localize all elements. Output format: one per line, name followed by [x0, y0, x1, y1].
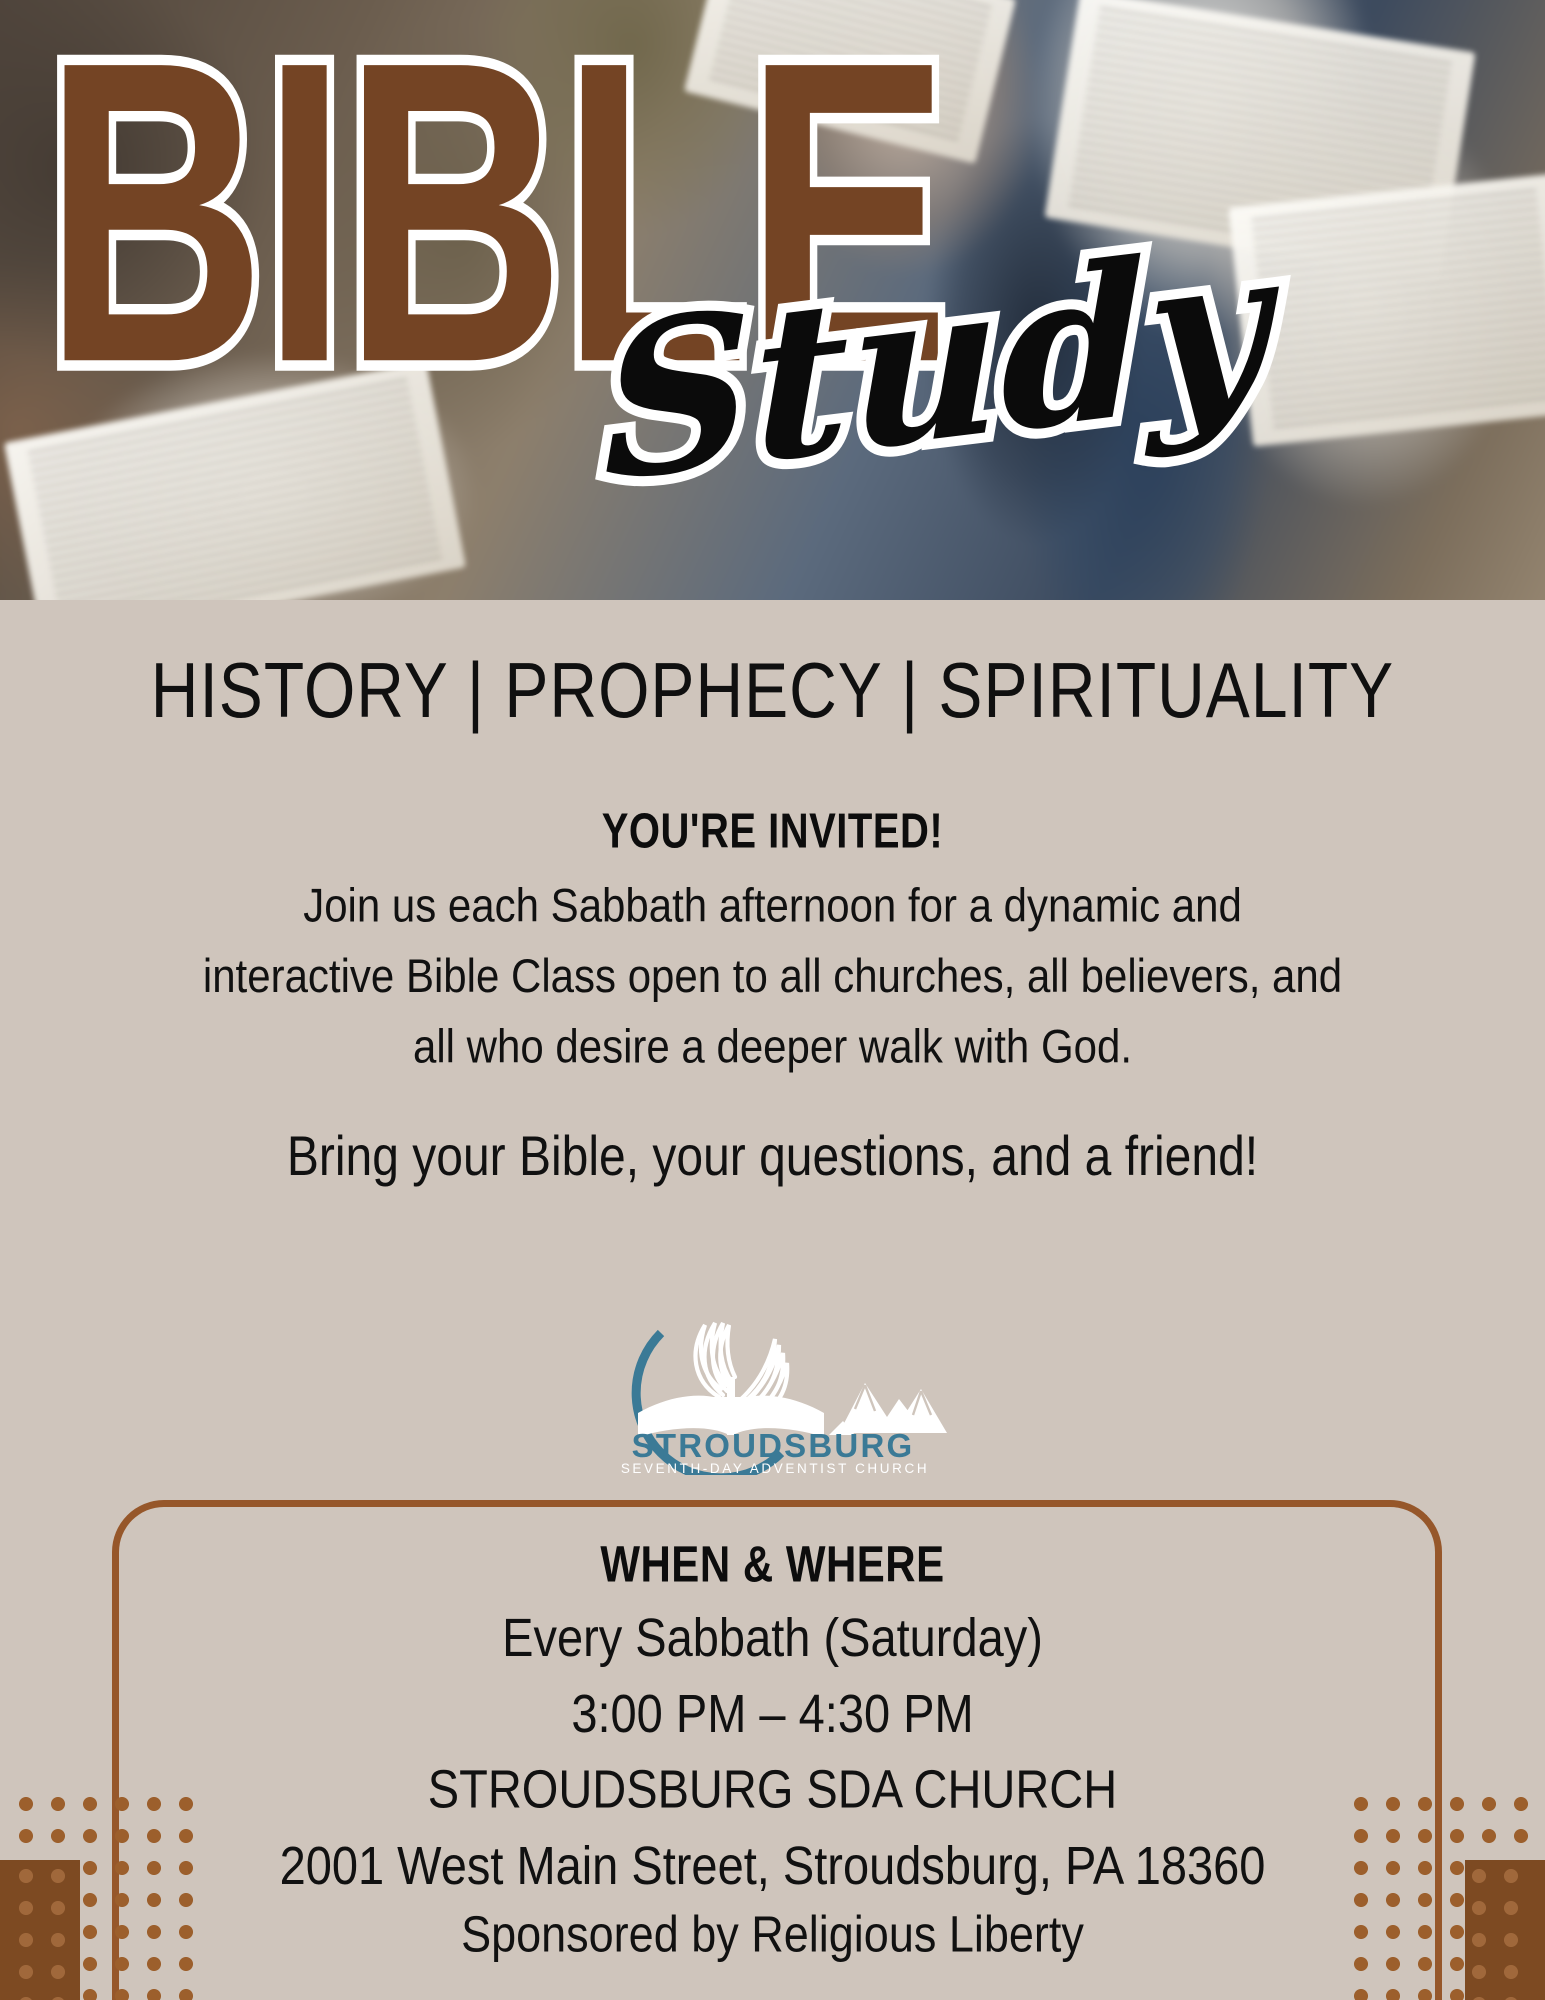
header-photo-banner: BIBLE Study [0, 0, 1545, 600]
event-time: 3:00 PM – 4:30 PM [60, 1676, 1485, 1752]
invitation-heading: YOU'RE INVITED! [0, 805, 1545, 860]
invitation-paragraph: Join us each Sabbath afternoon for a dyn… [50, 870, 1495, 1082]
event-address: 2001 West Main Street, Stroudsburg, PA 1… [60, 1828, 1485, 1904]
bible-study-flyer: BIBLE Study HISTORY | PROPHECY | SPIRITU… [0, 0, 1545, 2000]
event-venue: STROUDSBURG SDA CHURCH [60, 1752, 1485, 1828]
event-details: Every Sabbath (Saturday) 3:00 PM – 4:30 … [60, 1600, 1485, 1904]
topic-tagline: HISTORY | PROPHECY | SPIRITUALITY [0, 645, 1545, 735]
flame-left [695, 1323, 734, 1397]
church-logo: STROUDSBURG SEVENTH-DAY ADVENTIST CHURCH [543, 1285, 1003, 1475]
invitation-callout: Bring your Bible, your questions, and a … [0, 1125, 1545, 1189]
dot-grid-overlay-left [10, 1860, 82, 2000]
dot-grid-overlay-right [1463, 1860, 1535, 2000]
invitation-line-2: interactive Bible Class open to all chur… [50, 941, 1495, 1012]
wordmark: BIBLE Study [0, 0, 1545, 600]
event-heading: WHEN & WHERE [0, 1535, 1545, 1594]
invitation-line-1: Join us each Sabbath afternoon for a dyn… [50, 870, 1495, 941]
invitation-line-3: all who desire a deeper walk with God. [50, 1011, 1495, 1082]
sponsor-line: Sponsored by Religious Liberty [0, 1905, 1545, 1964]
logo-subtitle: SEVENTH-DAY ADVENTIST CHURCH [620, 1461, 928, 1475]
sda-logo-svg: STROUDSBURG SEVENTH-DAY ADVENTIST CHURCH [543, 1285, 1003, 1475]
event-day: Every Sabbath (Saturday) [60, 1600, 1485, 1676]
logo-wordmark: STROUDSBURG [631, 1427, 914, 1464]
